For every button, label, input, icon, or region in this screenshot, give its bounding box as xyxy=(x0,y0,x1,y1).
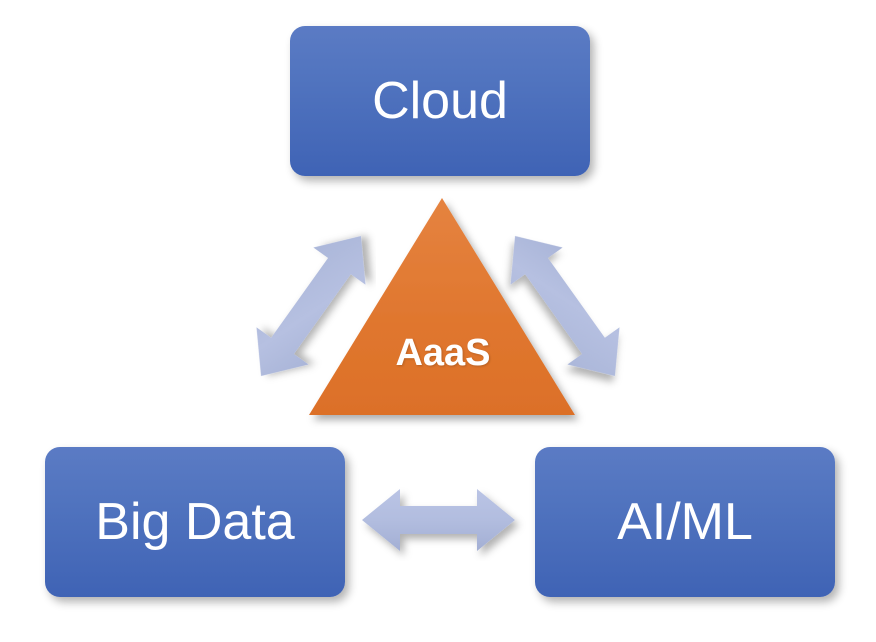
connector-cloud-ai-ml[interactable] xyxy=(500,222,630,390)
node-cloud[interactable]: Cloud xyxy=(290,26,590,176)
node-cloud-label: Cloud xyxy=(372,75,508,127)
double-headed-arrow-diagonal-icon xyxy=(500,222,630,390)
double-headed-arrow-diagonal-icon xyxy=(246,222,376,390)
double-headed-arrow-horizontal-icon xyxy=(358,483,528,561)
connector-big-data-ai-ml[interactable] xyxy=(358,483,528,561)
diagram-canvas: Cloud Big Data AI/ML AaaS xyxy=(0,0,876,642)
node-ai-ml[interactable]: AI/ML xyxy=(535,447,835,597)
node-big-data-label: Big Data xyxy=(95,496,294,548)
node-big-data[interactable]: Big Data xyxy=(45,447,345,597)
node-ai-ml-label: AI/ML xyxy=(617,496,753,548)
connector-big-data-cloud[interactable] xyxy=(246,222,376,390)
